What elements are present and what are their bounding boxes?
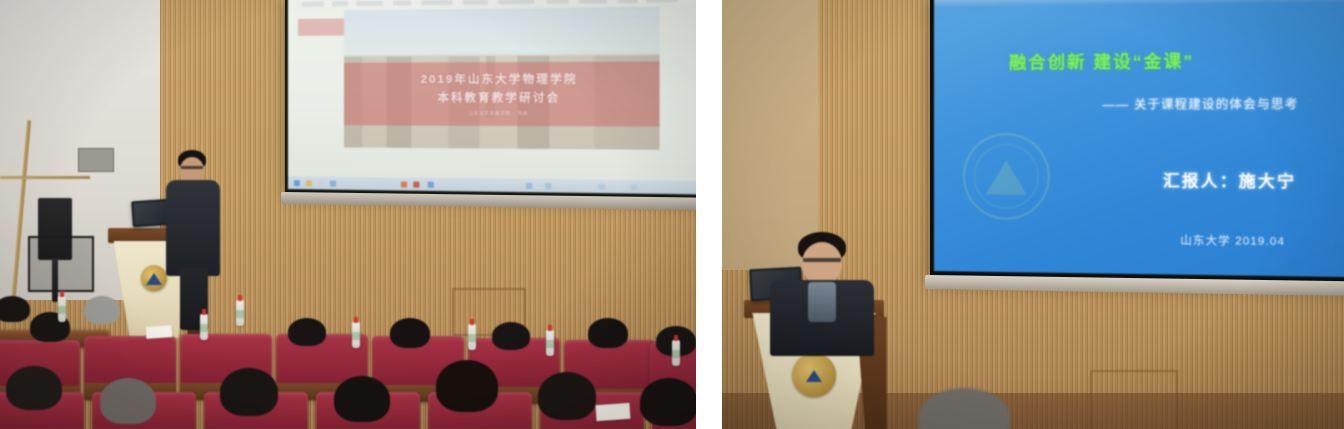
audience-head (100, 378, 156, 424)
screen-surface-left: 2019年山东大学物理学院 本科教育教学研讨会 山东大学物理学院 · 济南 (288, 0, 696, 195)
audience-head (6, 366, 62, 410)
wall-left-strip-right (722, 0, 818, 270)
shandong-university-emblem-right (792, 353, 836, 397)
screen-frame-left: 2019年山东大学物理学院 本科教育教学研讨会 山东大学物理学院 · 济南 (285, 0, 696, 198)
audience-head (84, 296, 120, 324)
water-bottle (468, 324, 476, 350)
photo-panel-left: 2019年山东大学物理学院 本科教育教学研讨会 山东大学物理学院 · 济南 (0, 0, 696, 429)
slide-footer-right: 山东大学 2019.04 (1180, 232, 1285, 250)
wall-panel-icon (78, 148, 114, 172)
paper-handout (146, 325, 173, 339)
paper-handout (595, 403, 630, 421)
screenshot-stage: 2019年山东大学物理学院 本科教育教学研讨会 山东大学物理学院 · 济南 (0, 0, 1344, 429)
slide-subtitle: 山东大学物理学院 · 济南 (469, 111, 528, 117)
slide-title-right: 融合创新 建设“金课” (1009, 47, 1194, 74)
photo-panel-right: 融合创新 建设“金课” —— 关于课程建设的体会与思考 汇报人：施大宁 山东大学… (722, 0, 1344, 429)
presenter-torso-left (166, 180, 220, 276)
slide-title-line1: 2019年山东大学物理学院 (421, 71, 578, 88)
water-bottle (200, 314, 208, 340)
audience-head (492, 322, 530, 350)
audience-head (288, 318, 326, 346)
screen-top-haze (934, 0, 1344, 8)
water-bottle (672, 340, 680, 366)
water-bottle (236, 300, 244, 326)
presenter-left (164, 150, 224, 330)
screen-frame-right: 融合创新 建设“金课” —— 关于课程建设的体会与思考 汇报人：施大宁 山东大学… (930, 0, 1344, 282)
water-bottle (58, 296, 66, 322)
panel-divider (696, 0, 722, 429)
audience-head (220, 368, 278, 416)
slide-title-line2: 本科教育教学研讨会 (437, 89, 560, 106)
water-bottle (352, 322, 360, 348)
speaker-stand (28, 236, 94, 292)
audience-head (588, 318, 628, 348)
presenter-shirt-right (808, 282, 836, 322)
presenter-glasses-right (803, 258, 841, 262)
nuaa-university-emblem (963, 133, 1050, 220)
audience-head (0, 296, 30, 322)
audience-head (390, 318, 430, 348)
slide-photo-area: 2019年山东大学物理学院 本科教育教学研讨会 山东大学物理学院 · 济南 (344, 7, 659, 150)
slide-title-banner: 2019年山东大学物理学院 本科教育教学研讨会 山东大学物理学院 · 济南 (344, 61, 659, 127)
presenter-head-right (802, 242, 842, 284)
pole-horizontal (0, 176, 90, 179)
presenter-glasses-left (181, 166, 203, 169)
screen-surface-right: 融合创新 建设“金课” —— 关于课程建设的体会与思考 汇报人：施大宁 山东大学… (934, 0, 1344, 277)
audience-head (334, 376, 390, 422)
projection-screen-right: 融合创新 建设“金课” —— 关于课程建设的体会与思考 汇报人：施大宁 山东大学… (930, 0, 1344, 282)
water-bottle (546, 330, 554, 356)
speaker-pole (52, 258, 58, 302)
slide-subtitle-right: —— 关于课程建设的体会与思考 (1103, 95, 1299, 113)
audience-head (436, 360, 498, 412)
windows-taskbar (288, 176, 696, 195)
ppt-red-tab (298, 18, 344, 35)
audience-head (640, 378, 696, 426)
slide-presenter-line: 汇报人：施大宁 (1163, 167, 1296, 192)
audience-head (538, 372, 596, 420)
presenter-right (762, 236, 882, 356)
projection-screen-left: 2019年山东大学物理学院 本科教育教学研讨会 山东大学物理学院 · 济南 (285, 0, 696, 198)
